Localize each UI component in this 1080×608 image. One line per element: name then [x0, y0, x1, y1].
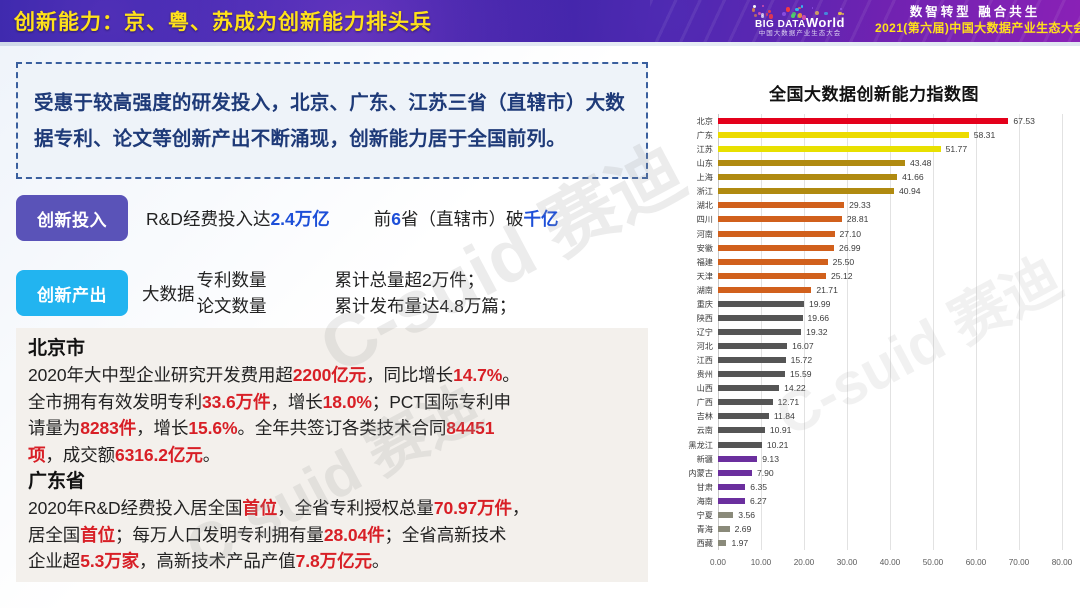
- chart-bar-row[interactable]: 广西12.71: [718, 397, 799, 407]
- innovation-investment-row: 创新投入 R&D经费投入达2.4万亿 前6省（直辖市）破千亿: [16, 194, 559, 242]
- chart-category-label: 安徽: [697, 242, 713, 254]
- chart-x-tick-label: 10.00: [751, 558, 772, 567]
- highlight-value: 18.0%: [323, 392, 372, 412]
- chart-category-label: 山西: [697, 382, 713, 394]
- beijing-paragraph: 2020年大中型企业研究开发费用超2200亿元，同比增长14.7%。全市拥有有效…: [28, 362, 636, 468]
- callout-box: 受惠于较高强度的研发投入，北京、广东、江苏三省（直辖市）大数据专利、论文等创新产…: [16, 62, 648, 179]
- chart-panel: 全国大数据创新能力指数图 北京67.53广东58.31江苏51.77山东43.4…: [668, 52, 1080, 592]
- chart-bar-row[interactable]: 广东58.31: [718, 130, 995, 140]
- chart-bar-row[interactable]: 湖南21.71: [718, 285, 838, 295]
- chart-bar-row[interactable]: 四川28.81: [718, 214, 868, 224]
- chart-value-label: 26.99: [839, 243, 861, 253]
- chart-value-label: 12.71: [778, 397, 800, 407]
- highlight-value: 2200亿元: [293, 365, 366, 385]
- chart-value-label: 67.53: [1013, 116, 1035, 126]
- chart-bar-row[interactable]: 山西14.22: [718, 383, 806, 393]
- chart-x-tick-label: 40.00: [880, 558, 901, 567]
- chart-bar[interactable]: [718, 413, 769, 419]
- paragraph-line: 项，成交额6316.2亿元。: [28, 442, 636, 469]
- paragraph-text: ，成交额: [45, 445, 115, 465]
- chart-category-label: 上海: [697, 171, 713, 183]
- chart-category-label: 新疆: [697, 453, 713, 465]
- chart-category-label: 黑龙江: [688, 439, 713, 451]
- chart-value-label: 41.66: [902, 172, 924, 182]
- chart-bar[interactable]: [718, 202, 844, 208]
- page-title: 创新能力：京、粤、苏成为创新能力排头兵: [14, 6, 432, 36]
- bigdata-world-logo: BIG DATAWorld 中国大数据产业生态大会: [745, 3, 855, 39]
- chart-bar-row[interactable]: 辽宁19.32: [718, 327, 828, 337]
- chart-bar-row[interactable]: 云南10.91: [718, 425, 791, 435]
- investment-texts: R&D经费投入达2.4万亿 前6省（直辖市）破千亿: [146, 206, 559, 231]
- chart-bar-row[interactable]: 内蒙古7.90: [718, 468, 774, 478]
- chart-value-label: 9.13: [762, 454, 779, 464]
- chart-title: 全国大数据创新能力指数图: [668, 80, 1080, 105]
- chart-value-label: 6.35: [750, 482, 767, 492]
- paragraph-line: 全市拥有有效发明专利33.6万件，增长18.0%；PCT国际专利申: [28, 389, 636, 416]
- paragraph-text: 请量为: [28, 418, 80, 438]
- chart-category-label: 四川: [697, 213, 713, 225]
- chart-bar[interactable]: [718, 118, 1008, 124]
- logo-subtitle: 中国大数据产业生态大会: [759, 30, 842, 38]
- logo-dots-icon: [751, 5, 849, 17]
- paragraph-text: ，增长: [136, 418, 188, 438]
- chart-category-label: 河北: [697, 340, 713, 352]
- chart-value-label: 10.21: [767, 440, 789, 450]
- chart-value-label: 27.10: [840, 229, 862, 239]
- chart-category-label: 陕西: [697, 312, 713, 324]
- chart-value-label: 10.91: [770, 425, 792, 435]
- highlight-value: 15.6%: [188, 418, 237, 438]
- chart-value-label: 15.72: [791, 355, 813, 365]
- investment-seg2-mid: 省（直辖市）破: [401, 209, 524, 229]
- chart-category-label: 江西: [697, 354, 713, 366]
- chart-bar[interactable]: [718, 399, 773, 405]
- output-body: 大数据 专利数量 论文数量 累计总量超2万件； 累计发布量达4.8万篇；: [142, 267, 516, 319]
- chart-value-label: 16.07: [792, 341, 814, 351]
- chart-value-label: 58.31: [974, 130, 996, 140]
- chart-value-label: 2.69: [735, 524, 752, 534]
- investment-seg1-pre: R&D经费投入达: [146, 209, 270, 229]
- highlight-value: 首位: [80, 525, 115, 545]
- chart-value-label: 21.71: [816, 285, 838, 295]
- slide-header: 创新能力：京、粤、苏成为创新能力排头兵 BIG DATAWorld 中国大数据产…: [0, 0, 1080, 42]
- chart-category-label: 青海: [697, 523, 713, 535]
- chart-bar[interactable]: [718, 160, 905, 166]
- highlight-value: 5.3万家: [80, 551, 139, 571]
- chart-category-label: 天津: [697, 270, 713, 282]
- chart-gridline: [933, 114, 934, 550]
- logo-world-text: World: [806, 15, 845, 30]
- chart-bar[interactable]: [718, 259, 828, 265]
- chart-gridline: [976, 114, 977, 550]
- slide-root: 创新能力：京、粤、苏成为创新能力排头兵 BIG DATAWorld 中国大数据产…: [0, 0, 1080, 608]
- chart-bar[interactable]: [718, 484, 745, 490]
- chart-bar[interactable]: [718, 245, 834, 251]
- chart-category-label: 辽宁: [697, 326, 713, 338]
- investment-seg2-pre: 前: [374, 209, 392, 229]
- chart-category-label: 湖北: [697, 199, 713, 211]
- chart-x-tick-label: 50.00: [923, 558, 944, 567]
- chart-bar[interactable]: [718, 287, 811, 293]
- chart-bar[interactable]: [718, 427, 765, 433]
- chart-bar-row[interactable]: 贵州15.59: [718, 369, 812, 379]
- chart-bar[interactable]: [718, 526, 730, 532]
- chart-bar-row[interactable]: 新疆9.13: [718, 454, 779, 464]
- chart-bar[interactable]: [718, 132, 969, 138]
- paragraph-text: ，全省专利授权总量: [277, 498, 434, 518]
- chart-bar[interactable]: [718, 174, 897, 180]
- chart-category-label: 西藏: [697, 537, 713, 549]
- chart-x-tick-label: 20.00: [794, 558, 815, 567]
- chart-bar[interactable]: [718, 512, 733, 518]
- chart-plot: 北京67.53广东58.31江苏51.77山东43.48上海41.66浙江40.…: [718, 114, 1062, 550]
- chart-bar-row[interactable]: 吉林11.84: [718, 411, 795, 421]
- chart-x-tick-label: 60.00: [966, 558, 987, 567]
- chart-bar-row[interactable]: 江西15.72: [718, 355, 812, 365]
- left-content-column: 受惠于较高强度的研发投入，北京、广东、江苏三省（直辖市）大数据专利、论文等创新产…: [0, 52, 668, 592]
- chart-category-label: 吉林: [697, 410, 713, 422]
- guangdong-paragraph: 2020年R&D经费投入居全国首位，全省专利授权总量70.97万件，居全国首位；…: [28, 495, 636, 575]
- chart-category-label: 云南: [697, 424, 713, 436]
- paragraph-text: 2020年大中型企业研究开发费用超: [28, 365, 293, 385]
- chart-category-label: 贵州: [697, 368, 713, 380]
- paragraph-text: 2020年R&D经费投入居全国: [28, 498, 242, 518]
- badge-innovation-output: 创新产出: [16, 270, 128, 316]
- chart-bar[interactable]: [718, 470, 752, 476]
- conference-name: 2021(第六届)中国大数据产业生态大会: [875, 20, 1075, 36]
- chart-bar-row[interactable]: 安徽26.99: [718, 243, 861, 253]
- investment-seg1-value: 2.4万亿: [270, 209, 329, 229]
- investment-statement-2: 前6省（直辖市）破千亿: [374, 206, 559, 231]
- paragraph-text: 。: [502, 365, 519, 385]
- chart-bar[interactable]: [718, 371, 785, 377]
- header-underline: [0, 42, 1080, 46]
- chart-x-tick-label: 30.00: [837, 558, 858, 567]
- chart-value-label: 6.27: [750, 496, 767, 506]
- paragraph-text: ，同比增长: [366, 365, 453, 385]
- paragraph-text: 全市拥有有效发明专利: [28, 392, 202, 412]
- chart-value-label: 29.33: [849, 200, 871, 210]
- output-kinds-list: 专利数量 论文数量: [197, 267, 267, 319]
- chart-value-label: 19.32: [806, 327, 828, 337]
- chart-category-label: 广东: [697, 129, 713, 141]
- chart-bar-row[interactable]: 西藏1.97: [718, 538, 748, 548]
- chart-category-label: 甘肃: [697, 481, 713, 493]
- chart-value-label: 43.48: [910, 158, 932, 168]
- highlight-value: 8283件: [80, 418, 136, 438]
- chart-value-label: 3.56: [738, 510, 755, 520]
- chart-category-label: 海南: [697, 495, 713, 507]
- chart-bar[interactable]: [718, 329, 801, 335]
- investment-statement-1: R&D经费投入达2.4万亿: [146, 206, 330, 231]
- chart-gridline: [1062, 114, 1063, 550]
- paragraph-text: ，: [512, 498, 529, 518]
- chart-area: 北京67.53广东58.31江苏51.77山东43.48上海41.66浙江40.…: [676, 114, 1072, 562]
- highlight-value: 7.8万亿元: [296, 551, 372, 571]
- paragraph-line: 居全国首位；每万人口发明专利拥有量28.04件；全省高新技术: [28, 522, 636, 549]
- chart-value-label: 7.90: [757, 468, 774, 478]
- highlight-value: 6316.2亿元: [115, 445, 203, 465]
- chart-category-label: 江苏: [697, 143, 713, 155]
- chart-category-label: 湖南: [697, 284, 713, 296]
- chart-category-label: 福建: [697, 256, 713, 268]
- output-kind-patents: 专利数量: [197, 267, 267, 293]
- chart-value-label: 19.99: [809, 299, 831, 309]
- chart-x-tick-label: 70.00: [1009, 558, 1030, 567]
- callout-text: 受惠于较高强度的研发投入，北京、广东、江苏三省（直辖市）大数据专利、论文等创新产…: [18, 85, 646, 157]
- chart-bar[interactable]: [718, 357, 786, 363]
- chart-bar-row[interactable]: 青海2.69: [718, 524, 751, 534]
- output-kind-papers: 论文数量: [197, 293, 267, 319]
- chart-bar[interactable]: [718, 216, 842, 222]
- chart-value-label: 1.97: [731, 538, 748, 548]
- highlight-value: 84451: [446, 418, 494, 438]
- chart-value-label: 28.81: [847, 214, 869, 224]
- chart-bar[interactable]: [718, 442, 762, 448]
- chart-bar-row[interactable]: 甘肃6.35: [718, 482, 767, 492]
- chart-bar[interactable]: [718, 540, 726, 546]
- chart-bar-row[interactable]: 河南27.10: [718, 229, 861, 239]
- chart-value-label: 25.12: [831, 271, 853, 281]
- chart-bar[interactable]: [718, 343, 787, 349]
- guangdong-heading: 广东省: [28, 469, 636, 495]
- chart-gridline: [1019, 114, 1020, 550]
- conference-text: 数智转型 融合共生 2021(第六届)中国大数据产业生态大会: [875, 4, 1075, 36]
- chart-bar-row[interactable]: 重庆19.99: [718, 299, 830, 309]
- highlight-value: 项: [28, 445, 45, 465]
- chart-value-label: 51.77: [946, 144, 968, 154]
- paragraph-text: 企业超: [28, 551, 80, 571]
- chart-bar-row[interactable]: 江苏51.77: [718, 144, 967, 154]
- chart-category-label: 山东: [697, 157, 713, 169]
- chart-category-label: 河南: [697, 228, 713, 240]
- paragraph-text: ；PCT国际专利申: [372, 392, 511, 412]
- paragraph-line: 企业超5.3万家，高新技术产品产值7.8万亿元。: [28, 548, 636, 575]
- paragraph-text: 居全国: [28, 525, 80, 545]
- chart-bar[interactable]: [718, 231, 835, 237]
- output-value-patents: 累计总量超2万件；: [335, 267, 517, 293]
- output-values-list: 累计总量超2万件； 累计发布量达4.8万篇；: [335, 267, 517, 319]
- paragraph-line: 请量为8283件，增长15.6%。全年共签订各类技术合同84451: [28, 415, 636, 442]
- badge-innovation-investment: 创新投入: [16, 195, 128, 241]
- chart-bar-row[interactable]: 上海41.66: [718, 172, 924, 182]
- chart-bar-row[interactable]: 北京67.53: [718, 116, 1035, 126]
- chart-category-label: 广西: [697, 396, 713, 408]
- chart-bar-row[interactable]: 浙江40.94: [718, 186, 921, 196]
- chart-bar-row[interactable]: 天津25.12: [718, 271, 853, 281]
- investment-seg2-count: 6: [391, 209, 401, 229]
- paragraph-line: 2020年R&D经费投入居全国首位，全省专利授权总量70.97万件，: [28, 495, 636, 522]
- chart-category-label: 重庆: [697, 298, 713, 310]
- logo-wordmark: BIG DATAWorld: [755, 17, 845, 30]
- paragraph-text: 。: [372, 551, 389, 571]
- chart-x-axis-ticks: 0.0010.0020.0030.0040.0050.0060.0070.008…: [718, 558, 1062, 574]
- paragraph-text: 。: [203, 445, 220, 465]
- highlight-value: 33.6万件: [202, 392, 270, 412]
- highlight-value: 首位: [242, 498, 277, 518]
- chart-value-label: 25.50: [833, 257, 855, 267]
- chart-bar-row[interactable]: 河北16.07: [718, 341, 814, 351]
- paragraph-line: 2020年大中型企业研究开发费用超2200亿元，同比增长14.7%。: [28, 362, 636, 389]
- highlight-value: 70.97万件: [434, 498, 512, 518]
- chart-bar[interactable]: [718, 273, 826, 279]
- highlight-value: 14.7%: [453, 365, 502, 385]
- chart-bar[interactable]: [718, 385, 779, 391]
- chart-x-tick-label: 0.00: [710, 558, 726, 567]
- chart-value-label: 19.66: [808, 313, 830, 323]
- chart-bar[interactable]: [718, 146, 941, 152]
- paragraph-text: ；每万人口发明专利拥有量: [115, 525, 324, 545]
- chart-value-label: 15.59: [790, 369, 812, 379]
- chart-bar-row[interactable]: 黑龙江10.21: [718, 440, 788, 450]
- chart-category-label: 浙江: [697, 185, 713, 197]
- chart-bar-row[interactable]: 山东43.48: [718, 158, 931, 168]
- conference-slogan: 数智转型 融合共生: [875, 4, 1075, 20]
- chart-bar[interactable]: [718, 315, 803, 321]
- chart-category-label: 北京: [697, 115, 713, 127]
- chart-value-label: 40.94: [899, 186, 921, 196]
- chart-category-label: 宁夏: [697, 509, 713, 521]
- chart-bar-row[interactable]: 福建25.50: [718, 257, 854, 267]
- chart-value-label: 14.22: [784, 383, 806, 393]
- paragraph-text: ，增长: [270, 392, 322, 412]
- chart-bar[interactable]: [718, 456, 757, 462]
- output-value-papers: 累计发布量达4.8万篇；: [335, 293, 517, 319]
- chart-bar[interactable]: [718, 498, 745, 504]
- chart-bar-row[interactable]: 海南6.27: [718, 496, 767, 506]
- paragraph-text: 。全年共签订各类技术合同: [237, 418, 446, 438]
- chart-category-label: 内蒙古: [688, 467, 713, 479]
- paragraph-text: ，高新技术产品产值: [139, 551, 296, 571]
- chart-bar-row[interactable]: 陕西19.66: [718, 313, 829, 323]
- chart-bar[interactable]: [718, 188, 894, 194]
- chart-x-tick-label: 80.00: [1052, 558, 1073, 567]
- chart-bar[interactable]: [718, 301, 804, 307]
- beijing-heading: 北京市: [28, 336, 636, 362]
- investment-seg2-value: 千亿: [524, 209, 559, 229]
- chart-bar-row[interactable]: 宁夏3.56: [718, 510, 755, 520]
- innovation-output-row: 创新产出 大数据 专利数量 论文数量 累计总量超2万件； 累计发布量达4.8万篇…: [16, 262, 516, 324]
- chart-bar-row[interactable]: 湖北29.33: [718, 200, 871, 210]
- chart-value-label: 11.84: [774, 411, 795, 421]
- logo-bigdata-text: BIG DATA: [755, 19, 806, 30]
- highlight-value: 28.04件: [324, 525, 385, 545]
- paragraph-text: ；全省高新技术: [385, 525, 507, 545]
- province-detail-box: 北京市 2020年大中型企业研究开发费用超2200亿元，同比增长14.7%。全市…: [16, 328, 648, 582]
- output-bigdata-label: 大数据: [142, 281, 195, 306]
